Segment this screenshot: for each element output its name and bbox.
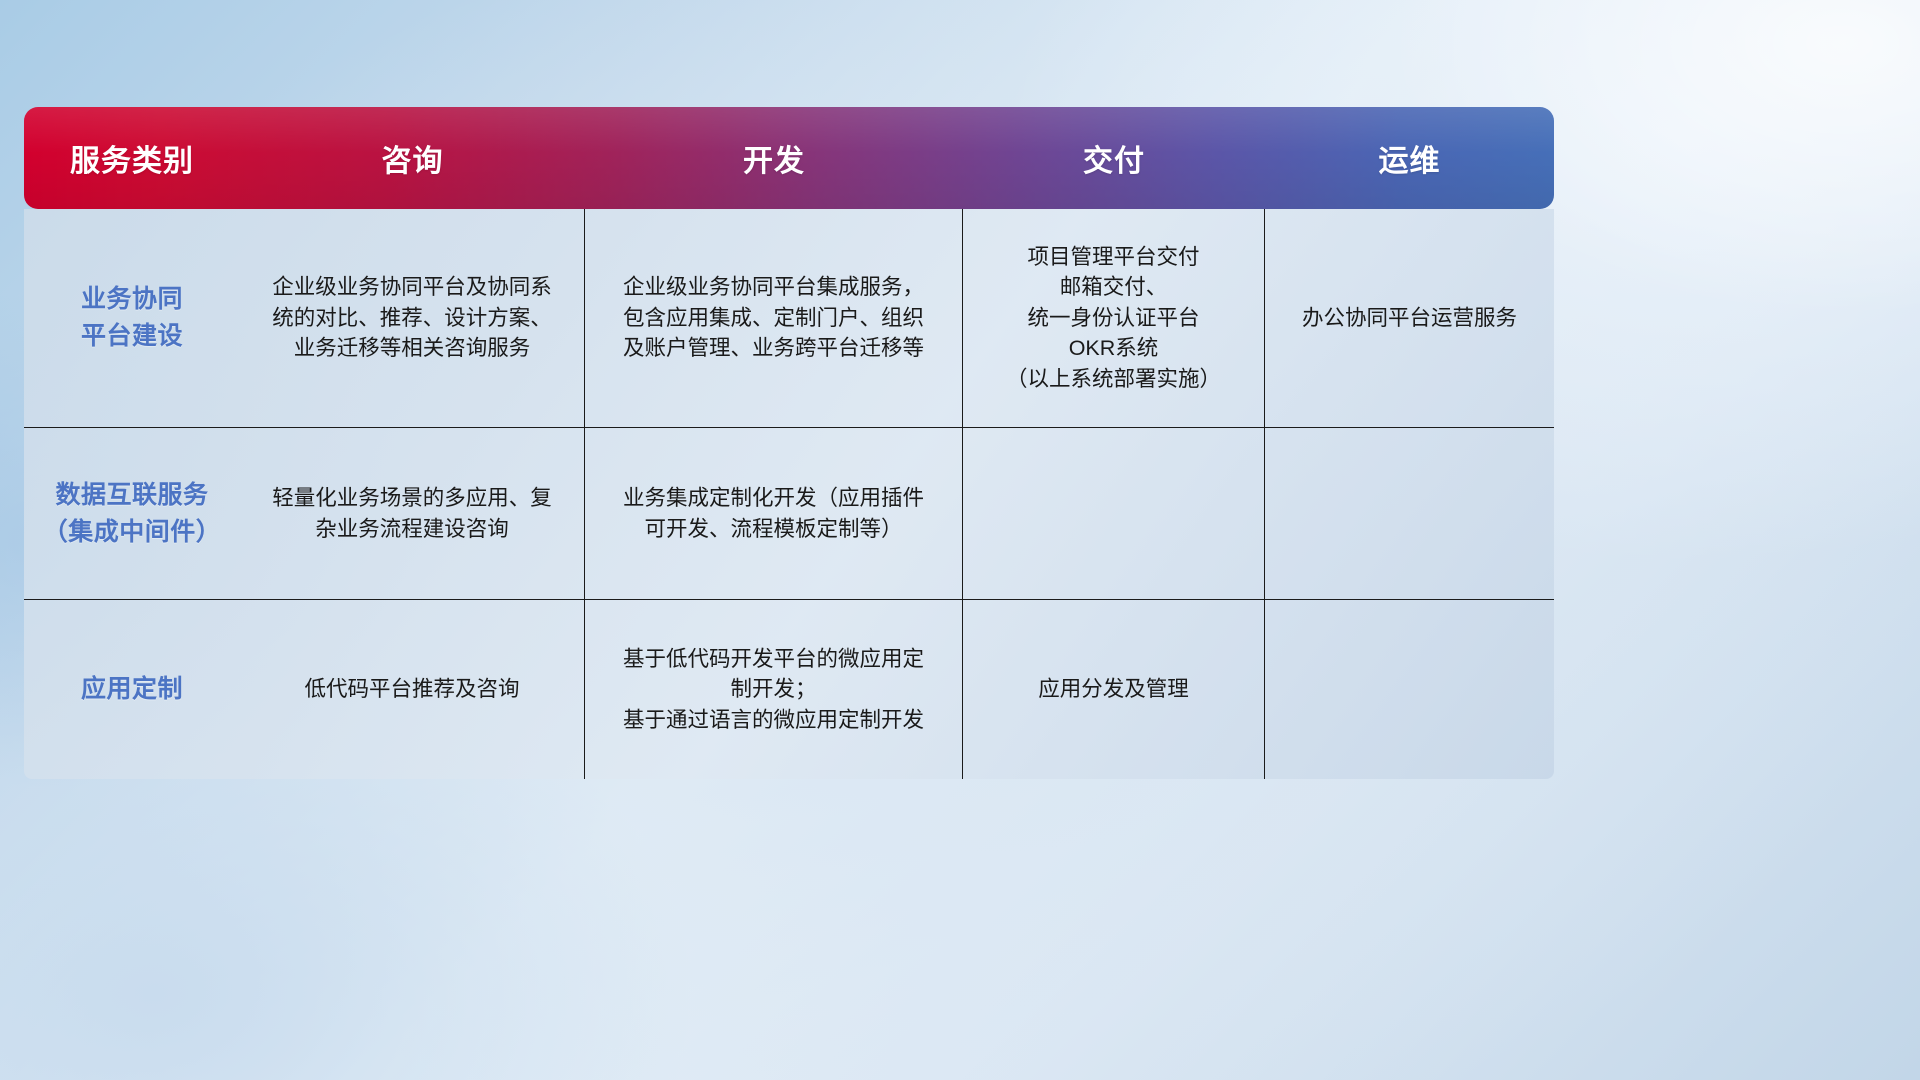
row-3-cell-category: 应用定制 bbox=[24, 600, 240, 779]
row-2-cell-consulting: 轻量化业务场景的多应用、复 杂业务流程建设咨询 bbox=[240, 428, 585, 599]
row-2-cell-delivery bbox=[963, 428, 1265, 599]
table-row: 应用定制 低代码平台推荐及咨询 基于低代码开发平台的微应用定 制开发； 基于通过… bbox=[24, 599, 1554, 779]
row-1-cell-delivery: 项目管理平台交付 邮箱交付、 统一身份认证平台 OKR系统 （以上系统部署实施） bbox=[963, 209, 1265, 427]
column-header-delivery: 交付 bbox=[963, 136, 1265, 180]
row-1-cell-category: 业务协同 平台建设 bbox=[24, 209, 240, 427]
row-3-cell-development: 基于低代码开发平台的微应用定 制开发； 基于通过语言的微应用定制开发 bbox=[585, 600, 963, 779]
row-1-cell-consulting: 企业级业务协同平台及协同系 统的对比、推荐、设计方案、 业务迁移等相关咨询服务 bbox=[240, 209, 585, 427]
table-row: 业务协同 平台建设 企业级业务协同平台及协同系 统的对比、推荐、设计方案、 业务… bbox=[24, 209, 1554, 427]
row-3-cell-delivery: 应用分发及管理 bbox=[963, 600, 1265, 779]
table-row: 数据互联服务 （集成中间件） 轻量化业务场景的多应用、复 杂业务流程建设咨询 业… bbox=[24, 427, 1554, 599]
table-body: 业务协同 平台建设 企业级业务协同平台及协同系 统的对比、推荐、设计方案、 业务… bbox=[24, 209, 1554, 779]
row-2-cell-development: 业务集成定制化开发（应用插件 可开发、流程模板定制等） bbox=[585, 428, 963, 599]
table-header-row: 服务类别 咨询 开发 交付 运维 bbox=[24, 107, 1554, 209]
row-3-cell-consulting: 低代码平台推荐及咨询 bbox=[240, 600, 585, 779]
column-header-consulting: 咨询 bbox=[240, 136, 585, 180]
column-header-operations: 运维 bbox=[1265, 136, 1554, 180]
column-header-category: 服务类别 bbox=[24, 136, 240, 180]
row-1-cell-operations: 办公协同平台运营服务 bbox=[1265, 209, 1554, 427]
row-2-cell-operations bbox=[1265, 428, 1554, 599]
service-matrix-table: 服务类别 咨询 开发 交付 运维 业务协同 平台建设 企业级业务协同平台及协同系… bbox=[24, 107, 1554, 779]
column-header-development: 开发 bbox=[585, 136, 963, 180]
row-3-cell-operations bbox=[1265, 600, 1554, 779]
row-2-cell-category: 数据互联服务 （集成中间件） bbox=[24, 428, 240, 599]
row-1-cell-development: 企业级业务协同平台集成服务， 包含应用集成、定制门户、组织 及账户管理、业务跨平… bbox=[585, 209, 963, 427]
